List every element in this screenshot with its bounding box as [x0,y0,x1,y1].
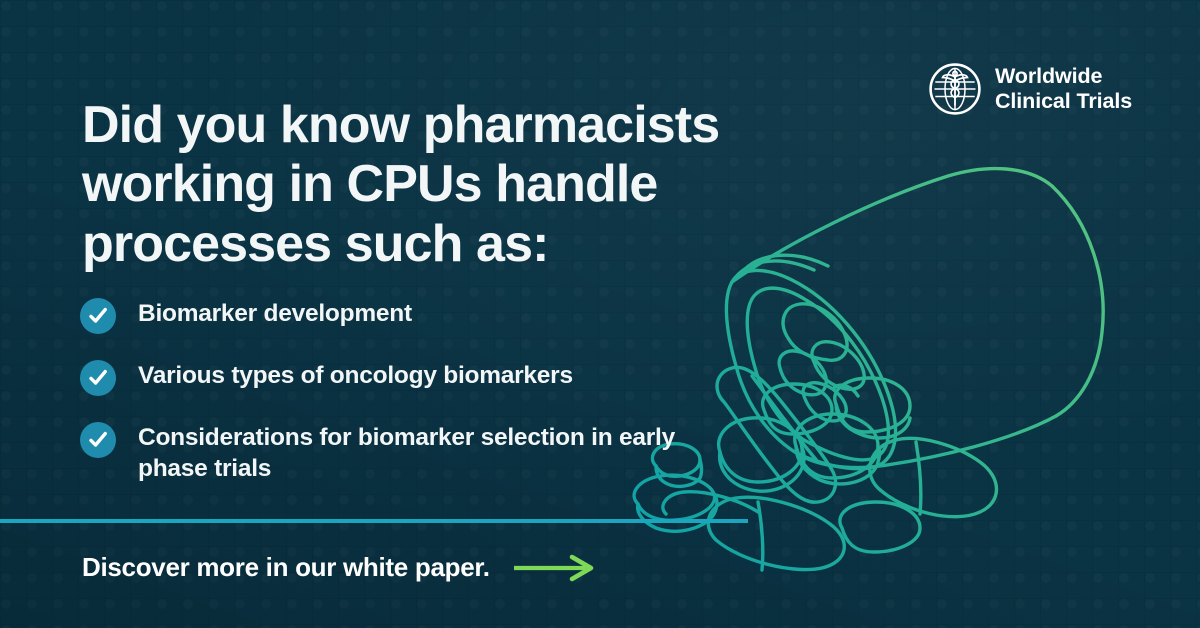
globe-caduceus-icon [928,62,982,116]
social-card: Worldwide Clinical Trials Did you know p… [0,0,1200,628]
brand-name-line-1: Worldwide [995,64,1132,89]
list-item: Considerations for biomarker selection i… [80,421,720,485]
check-icon [80,298,116,334]
cta[interactable]: Discover more in our white paper. [82,552,594,583]
arrow-right-icon[interactable] [512,555,594,581]
brand-logo[interactable]: Worldwide Clinical Trials [928,62,1132,116]
list-item-label: Biomarker development [138,297,412,330]
cta-label: Discover more in our white paper. [82,552,490,583]
brand-logo-text: Worldwide Clinical Trials [995,64,1132,114]
list-item: Various types of oncology biomarkers [80,359,720,396]
check-icon [80,422,116,458]
list-item-label: Considerations for biomarker selection i… [138,421,720,485]
list-item: Biomarker development [80,297,720,334]
headline: Did you know pharmacists working in CPUs… [82,96,842,274]
bullet-list: Biomarker development Various types of o… [80,297,720,485]
brand-name-line-2: Clinical Trials [995,89,1132,114]
divider-rule [0,519,748,523]
check-icon [80,360,116,396]
list-item-label: Various types of oncology biomarkers [138,359,573,392]
